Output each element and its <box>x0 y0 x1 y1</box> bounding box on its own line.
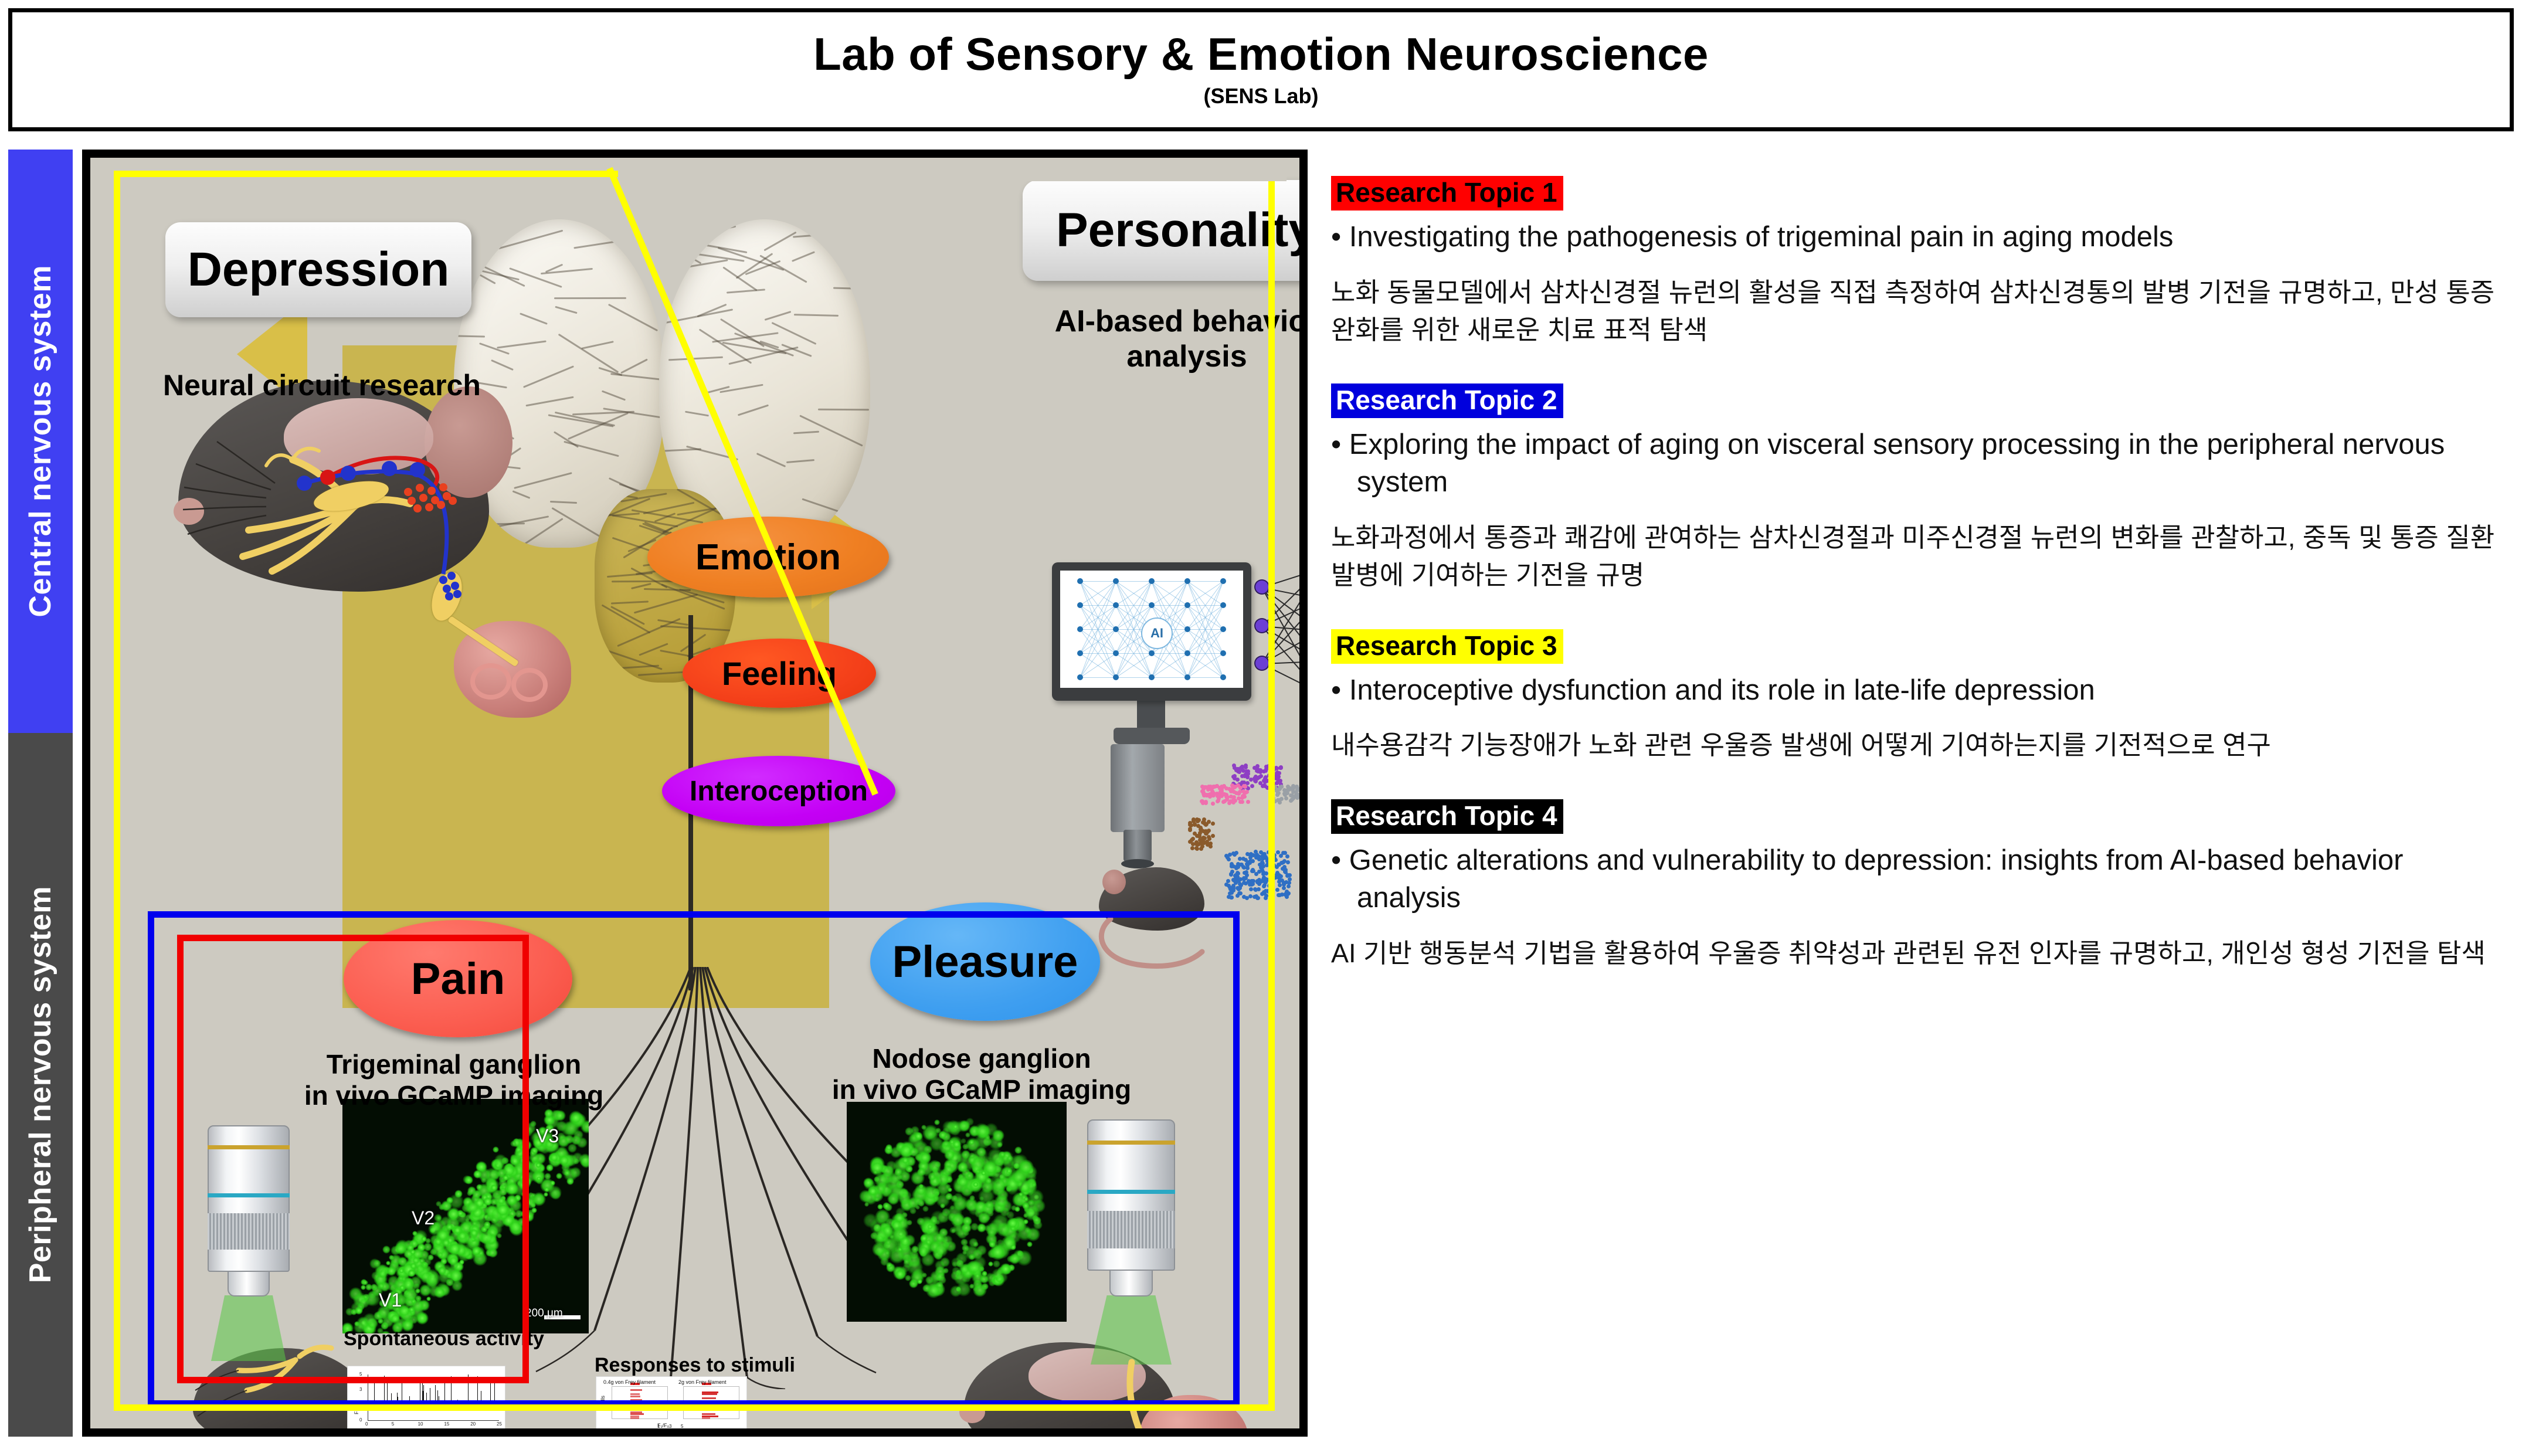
monitor-stand <box>1137 701 1165 731</box>
gcamp-label-v3: V3 <box>536 1125 559 1147</box>
diagram-canvas: Emotion Feeling Interoception Pain Pleas… <box>90 158 1299 1428</box>
topic-2-korean: 노화과정에서 통증과 쾌감에 관여하는 삼차신경절과 미주신경절 뉴런의 변화를… <box>1331 519 2504 594</box>
frame-yellow-notch <box>618 164 1287 181</box>
research-topic-3: Research Topic 3 • Interoceptive dysfunc… <box>1331 629 2504 765</box>
ai-badge-icon: AI <box>1141 617 1173 649</box>
resp-raster-ylabel: Cells <box>600 1396 606 1407</box>
pirt-gene-italic: Pirt <box>215 1431 254 1437</box>
research-topic-2: Research Topic 2 • Exploring the impact … <box>1331 383 2504 593</box>
mouse-nose-bottom-right <box>959 1401 985 1423</box>
sidebar-label-peripheral: Peripheral nervous system <box>23 886 58 1283</box>
topic-4-badge: Research Topic 4 <box>1331 799 1563 834</box>
caption-ai-line2: analysis <box>1029 340 1308 375</box>
gut-coil-c <box>1155 1434 1193 1437</box>
resp-left-title: 0.4g von Frey filament <box>603 1379 656 1385</box>
objective-lens-right <box>1087 1119 1175 1301</box>
research-topic-1: Research Topic 1 • Investigating the pat… <box>1331 176 2504 348</box>
pirt-suffix: -GCaMP3 <box>254 1431 358 1437</box>
research-topic-4: Research Topic 4 • Genetic alterations a… <box>1331 799 2504 972</box>
gcamp-scalebar-label: 200 μm <box>525 1307 563 1320</box>
topic-4-english: • Genetic alterations and vulnerability … <box>1331 842 2504 917</box>
caption-responses-to-stimuli: Responses to stimuli <box>595 1354 841 1377</box>
vagus-nerve-right <box>1081 1342 1257 1437</box>
caption-trigeminal-line2: in vivo GCaMP imaging <box>260 1080 647 1111</box>
sidebar-band-central: Central nervous system <box>8 150 73 733</box>
figure-spontaneous-activity: 53100510152025135 F₁/F₀ Time (min) Cell … <box>347 1366 505 1437</box>
page-subtitle: (SENS Lab) <box>1203 84 1318 108</box>
caption-nodose-line2: in vivo GCaMP imaging <box>788 1074 1175 1105</box>
neural-network-graph <box>1251 562 1308 738</box>
spont-ylabel: F₁/F₀ <box>354 1403 359 1414</box>
figure-responses-to-stimuli: 5432100257510054321002575100135 0.4g von… <box>596 1376 747 1437</box>
gcamp-label-v1: V1 <box>379 1289 402 1311</box>
objective-lens-left <box>208 1125 290 1301</box>
nervous-system-sidebar: Central nervous system Peripheral nervou… <box>8 150 73 1437</box>
caption-ai-line1: AI-based behavior <box>1029 304 1308 340</box>
caption-spontaneous-activity: Spontaneous activity <box>344 1328 596 1350</box>
topic-1-korean: 노화 동물모델에서 삼차신경절 뉴런의 활성을 직접 측정하여 삼차신경통의 발… <box>1331 274 2504 349</box>
camera-lens-ring <box>1121 859 1154 868</box>
topic-2-english: • Exploring the impact of aging on visce… <box>1331 426 2504 501</box>
behavior-camera <box>1111 744 1165 832</box>
camera-lens-icon <box>1123 830 1152 861</box>
ellipse-pain: Pain <box>344 920 572 1037</box>
caption-trigeminal-line1: Trigeminal ganglion <box>260 1049 647 1080</box>
caption-pirt-line1: Pirt-GCaMP3 <box>190 1430 383 1437</box>
topic-1-english: • Investigating the pathogenesis of trig… <box>1331 219 2504 256</box>
monitor-base <box>1114 728 1190 744</box>
behavior-cluster-scatter <box>1187 750 1308 943</box>
gcamp-label-v2: V2 <box>412 1207 435 1229</box>
excitation-light-cone-left <box>211 1295 286 1361</box>
mouse-ear-under-camera <box>1102 870 1126 894</box>
ai-monitor: AI <box>1052 562 1251 701</box>
caption-ai-behavior: AI-based behavior analysis <box>1029 304 1308 375</box>
topic-4-korean: AI 기반 행동분석 기법을 활용하여 우울증 취약성과 관련된 유전 인자를 … <box>1331 935 2504 972</box>
caption-neural-circuit: Neural circuit research <box>134 369 510 403</box>
topic-3-english: • Interoceptive dysfunction and its role… <box>1331 672 2504 710</box>
ai-monitor-screen: AI <box>1060 571 1243 688</box>
resp-right-title: 2g von Frey filament <box>678 1379 727 1385</box>
sidebar-band-peripheral: Peripheral nervous system <box>8 733 73 1437</box>
gcamp-image-nodose <box>847 1102 1067 1322</box>
chip-depression: Depression <box>165 222 471 317</box>
ellipse-feeling: Feeling <box>683 639 876 708</box>
topic-1-badge: Research Topic 1 <box>1331 176 1563 211</box>
caption-nodose-line1: Nodose ganglion <box>788 1043 1175 1074</box>
caption-trigeminal: Trigeminal ganglion in vivo GCaMP imagin… <box>260 1049 647 1111</box>
page-title: Lab of Sensory & Emotion Neuroscience <box>813 31 1709 77</box>
concept-diagram-panel: Emotion Feeling Interoception Pain Pleas… <box>82 150 1308 1437</box>
topic-3-korean: 내수용감각 기능장애가 노화 관련 우울증 발생에 어떻게 기여하는지를 기전적… <box>1331 727 2504 764</box>
caption-pirt-mice: Pirt-GCaMP3 mice <box>190 1430 383 1437</box>
research-topics-list: Research Topic 1 • Investigating the pat… <box>1331 176 2504 1431</box>
poster-root: Lab of Sensory & Emotion Neuroscience (S… <box>0 0 2522 1456</box>
ganglion-cell-dots <box>178 381 542 709</box>
topic-3-badge: Research Topic 3 <box>1331 629 1563 664</box>
header-banner: Lab of Sensory & Emotion Neuroscience (S… <box>8 8 2514 131</box>
chip-personality: Personality <box>1023 180 1308 281</box>
sidebar-label-central: Central nervous system <box>23 265 58 617</box>
ellipse-emotion: Emotion <box>647 517 889 598</box>
caption-nodose: Nodose ganglion in vivo GCaMP imaging <box>788 1043 1175 1105</box>
ellipse-pleasure: Pleasure <box>870 902 1100 1021</box>
spont-xlabel: Time (min) <box>411 1428 436 1434</box>
resp-colorbar-label: F₁/F₀ <box>657 1423 669 1428</box>
topic-2-badge: Research Topic 2 <box>1331 383 1563 418</box>
